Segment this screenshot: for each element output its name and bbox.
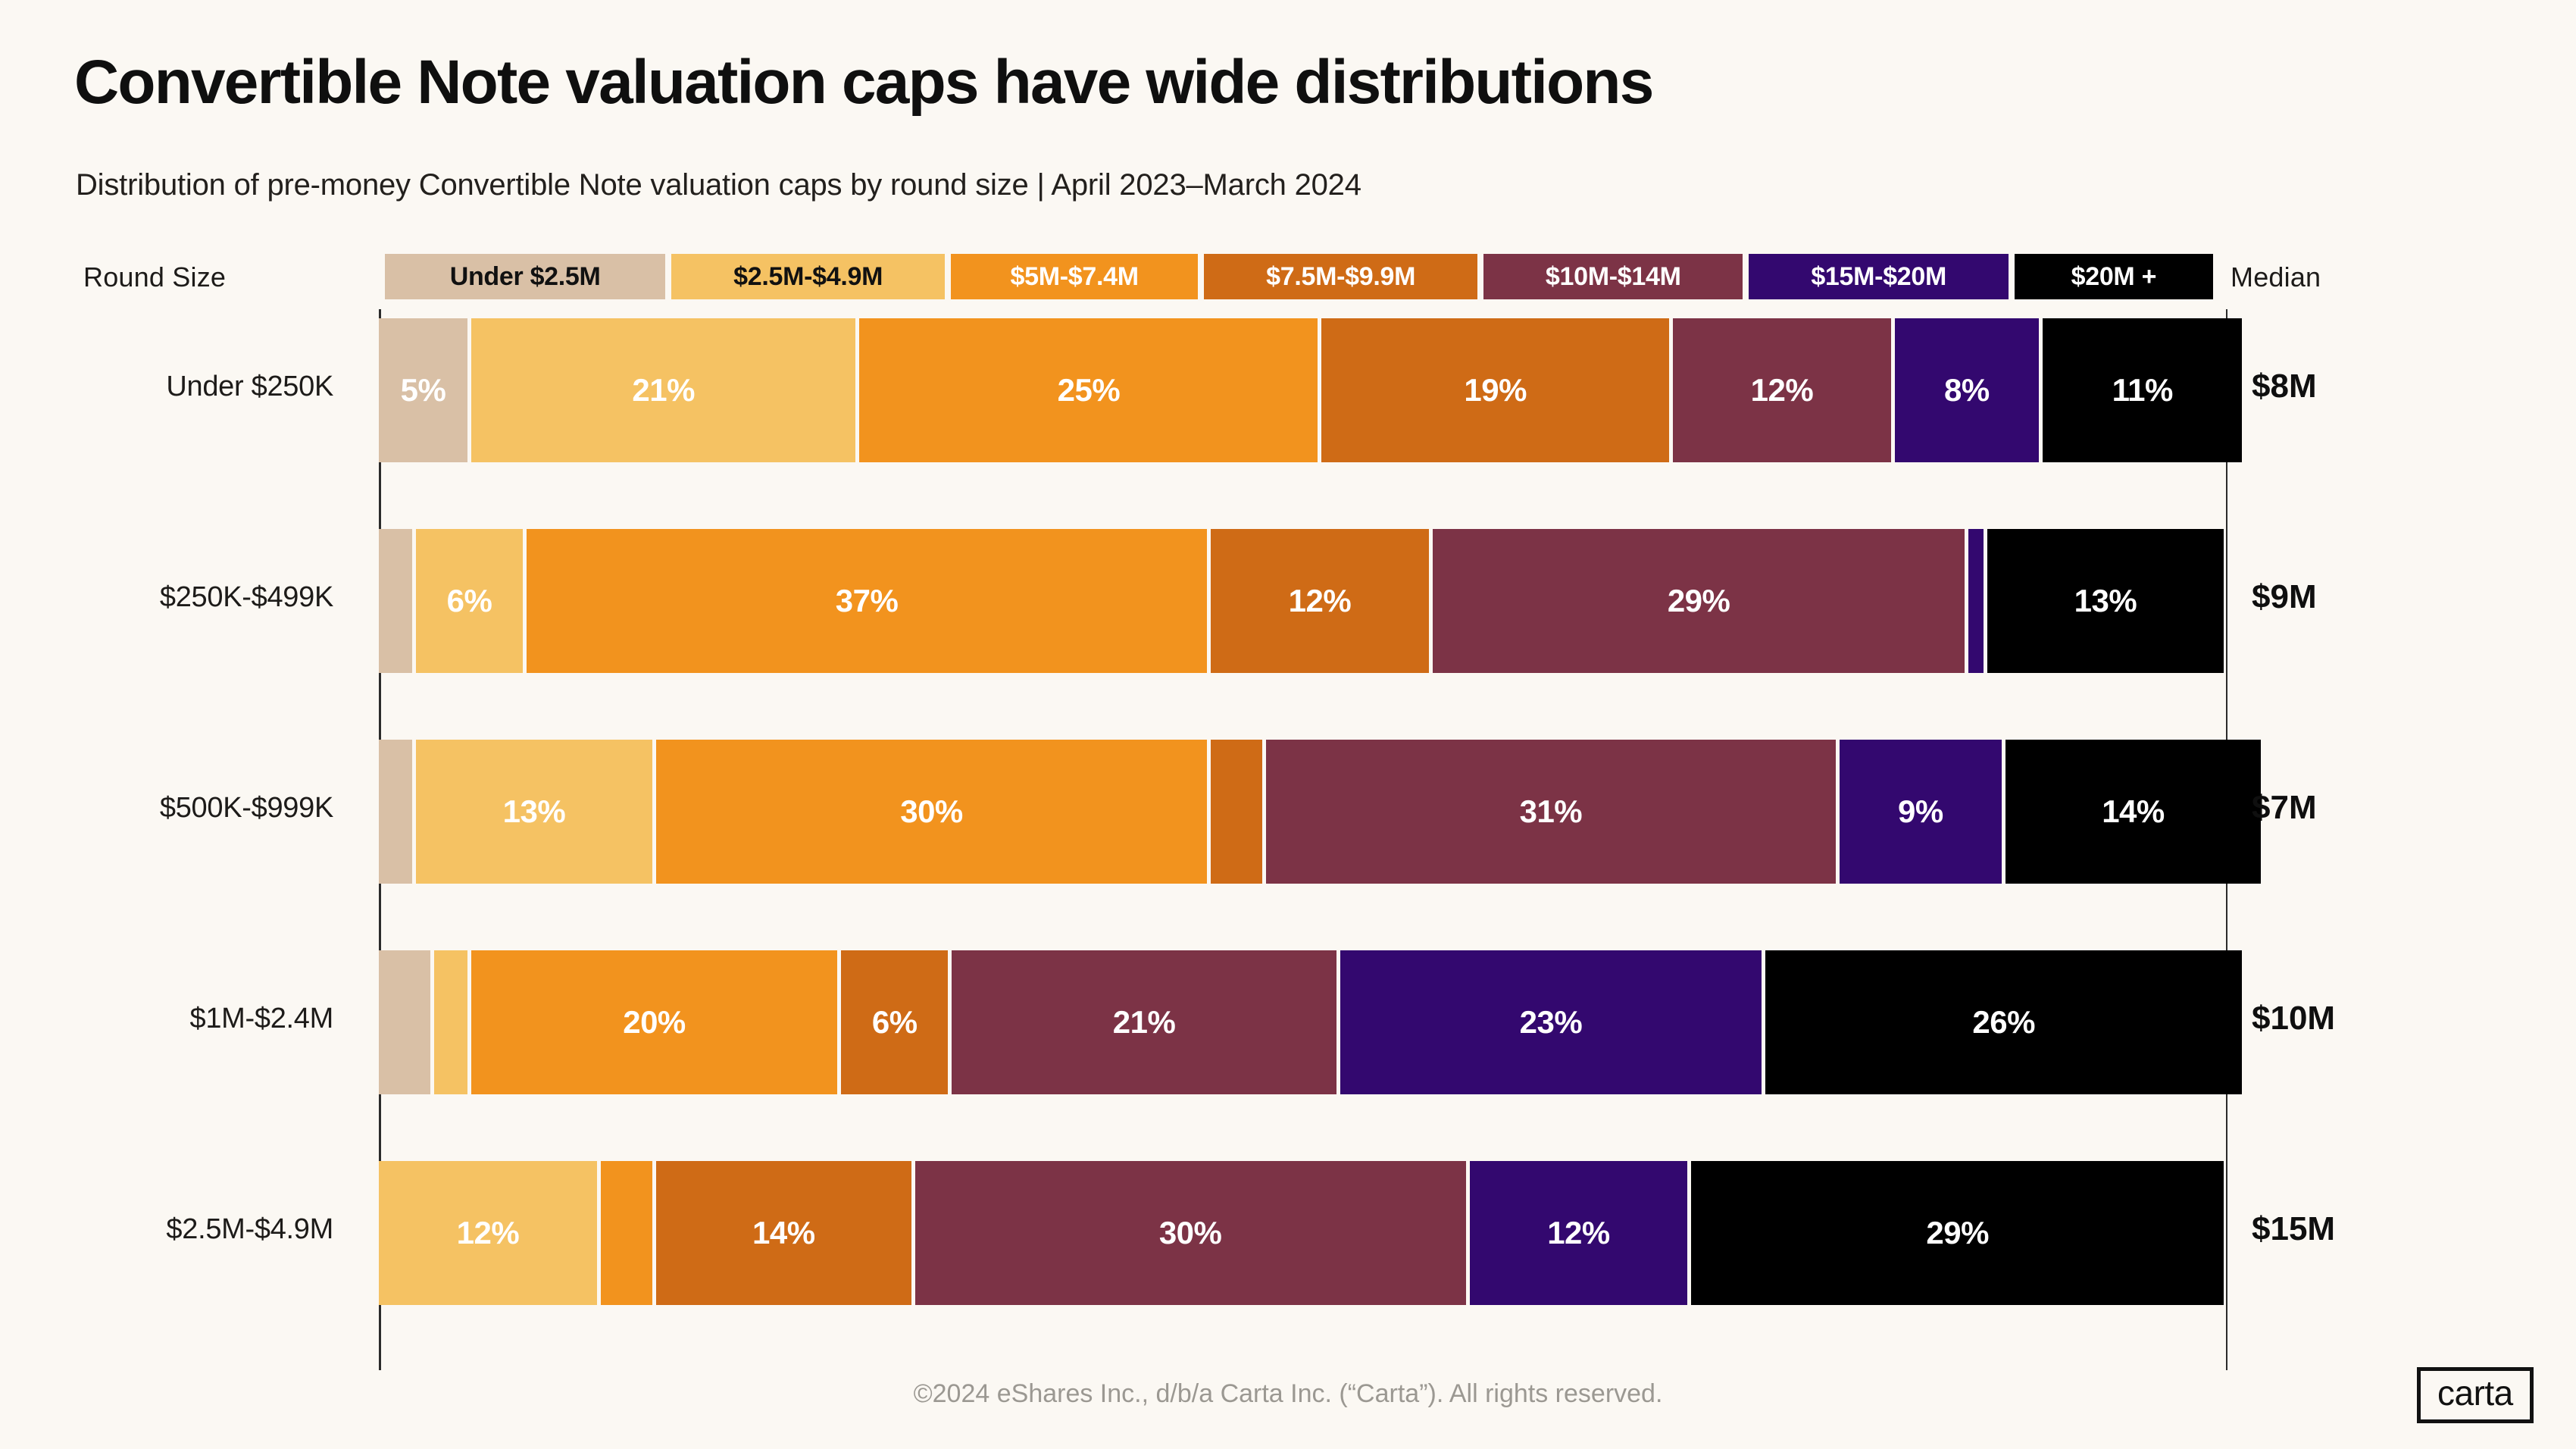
bar-segment[interactable]: 20% [471,950,837,1094]
copyright-note: ©2024 eShares Inc., d/b/a Carta Inc. (“C… [0,1379,2576,1409]
round-size-header: Round Size [83,261,226,293]
chart-row: 20%6%21%23%26% [379,950,2227,1094]
legend-chip-label: $2.5M-$4.9M [733,262,883,292]
bar-segment[interactable]: 30% [915,1161,1466,1305]
bar-segment-label: 13% [503,793,566,830]
row-category-label: $250K-$499K [30,581,333,614]
bar-segment[interactable]: 30% [656,740,1207,884]
bar-segment-label: 5% [401,372,446,408]
legend-chip-label: $7.5M-$9.9M [1266,262,1415,292]
bar-segment-label: 9% [1898,793,1943,830]
bar-segment[interactable]: 12% [379,1161,597,1305]
row-median-value: $10M [2252,1000,2449,1037]
bar-segment[interactable]: 26% [1765,950,2242,1094]
bar-segment-label: 25% [1058,372,1121,408]
legend-chip-label: $20M + [2071,262,2157,292]
bar-segment[interactable]: 6% [841,950,948,1094]
bar-segment[interactable]: 8% [1895,318,2039,462]
bar-segment-label: 26% [1972,1004,2035,1041]
chart-row: 12%14%30%12%29% [379,1161,2227,1305]
bar-segment-label: 12% [1751,372,1814,408]
bar-segment[interactable]: 25% [859,318,1318,462]
bar-segment-label: 23% [1520,1004,1583,1041]
bar-segment[interactable]: 12% [1673,318,1891,462]
bar-segment[interactable]: 29% [1691,1161,2224,1305]
legend-chip-label: $15M-$20M [1811,262,1946,292]
bar-segment-label: 29% [1926,1215,1989,1251]
bar-segment[interactable]: 11% [2043,318,2242,462]
carta-logo-text: carta [2437,1375,2513,1410]
bar-segment[interactable]: 5% [379,318,467,462]
row-median-value: $8M [2252,368,2449,405]
bar-segment-label: 12% [457,1215,520,1251]
bar-segment-label: 30% [1159,1215,1222,1251]
bar-segment[interactable] [379,529,412,673]
bar-segment[interactable] [1211,740,1262,884]
bar-segment-label: 14% [752,1215,815,1251]
stacked-bar-plot: 5%21%25%19%12%8%11%Under $250K$8M6%37%12… [379,318,2227,1364]
chart-row: 5%21%25%19%12%8%11% [379,318,2227,462]
bar-segment[interactable] [1968,529,1983,673]
bar-segment[interactable]: 29% [1433,529,1965,673]
row-category-label: $1M-$2.4M [30,1003,333,1035]
bar-segment[interactable]: 23% [1340,950,1762,1094]
bar-segment[interactable]: 12% [1470,1161,1688,1305]
legend-chip-6[interactable]: $20M + [2015,254,2213,299]
bar-segment[interactable] [601,1161,652,1305]
legend-chip-5[interactable]: $15M-$20M [1749,254,2008,299]
legend-chip-2[interactable]: $5M-$7.4M [951,254,1198,299]
legend-chip-1[interactable]: $2.5M-$4.9M [671,254,945,299]
chart-row: 6%37%12%29%13% [379,529,2227,673]
median-header: Median [2231,261,2321,293]
legend-chip-3[interactable]: $7.5M-$9.9M [1204,254,1477,299]
bar-segment-label: 31% [1520,793,1583,830]
row-median-value: $7M [2252,789,2449,827]
bar-segment[interactable]: 12% [1211,529,1429,673]
bar-segment-label: 6% [447,583,492,619]
carta-logo: carta [2417,1367,2534,1423]
bar-segment-label: 30% [900,793,963,830]
bar-segment[interactable]: 13% [1987,529,2224,673]
bar-segment-label: 11% [2112,372,2173,408]
bar-segment-label: 21% [632,372,695,408]
bar-segment[interactable]: 14% [2005,740,2261,884]
bar-segment[interactable]: 14% [656,1161,911,1305]
bar-segment[interactable]: 37% [527,529,1207,673]
row-category-label: $2.5M-$4.9M [30,1213,333,1246]
bar-segment[interactable]: 19% [1321,318,1669,462]
bar-segment-label: 29% [1668,583,1730,619]
legend-chip-4[interactable]: $10M-$14M [1483,254,1743,299]
bar-segment[interactable]: 21% [471,318,855,462]
legend-chip-label: Under $2.5M [450,262,601,292]
legend-chip-label: $10M-$14M [1546,262,1681,292]
bar-segment[interactable]: 21% [952,950,1336,1094]
bar-segment[interactable]: 6% [416,529,523,673]
legend-chip-0[interactable]: Under $2.5M [385,254,665,299]
bar-segment[interactable]: 31% [1266,740,1835,884]
page-title: Convertible Note valuation caps have wid… [74,47,1653,118]
bar-segment-label: 13% [2074,583,2137,619]
chart-page: Convertible Note valuation caps have wid… [0,0,2576,1449]
bar-segment[interactable] [379,950,430,1094]
page-subtitle: Distribution of pre-money Convertible No… [76,168,1361,202]
bar-segment-label: 14% [2102,793,2165,830]
bar-segment-label: 12% [1289,583,1352,619]
bar-segment-label: 8% [1944,372,1990,408]
bar-segment[interactable]: 9% [1840,740,2002,884]
bar-segment[interactable] [379,740,412,884]
row-median-value: $15M [2252,1210,2449,1248]
bar-segment-label: 21% [1113,1004,1176,1041]
bar-segment-label: 12% [1547,1215,1610,1251]
chart-legend: Under $2.5M$2.5M-$4.9M$5M-$7.4M$7.5M-$9.… [385,254,2227,299]
bar-segment-label: 19% [1464,372,1527,408]
bar-segment[interactable]: 13% [416,740,652,884]
row-category-label: $500K-$999K [30,792,333,825]
row-median-value: $9M [2252,578,2449,616]
bar-segment-label: 37% [836,583,899,619]
bar-segment-label: 20% [623,1004,686,1041]
chart-row: 13%30%31%9%14% [379,740,2227,884]
legend-chip-label: $5M-$7.4M [1011,262,1139,292]
row-category-label: Under $250K [30,371,333,403]
bar-segment[interactable] [434,950,467,1094]
bar-segment-label: 6% [872,1004,918,1041]
